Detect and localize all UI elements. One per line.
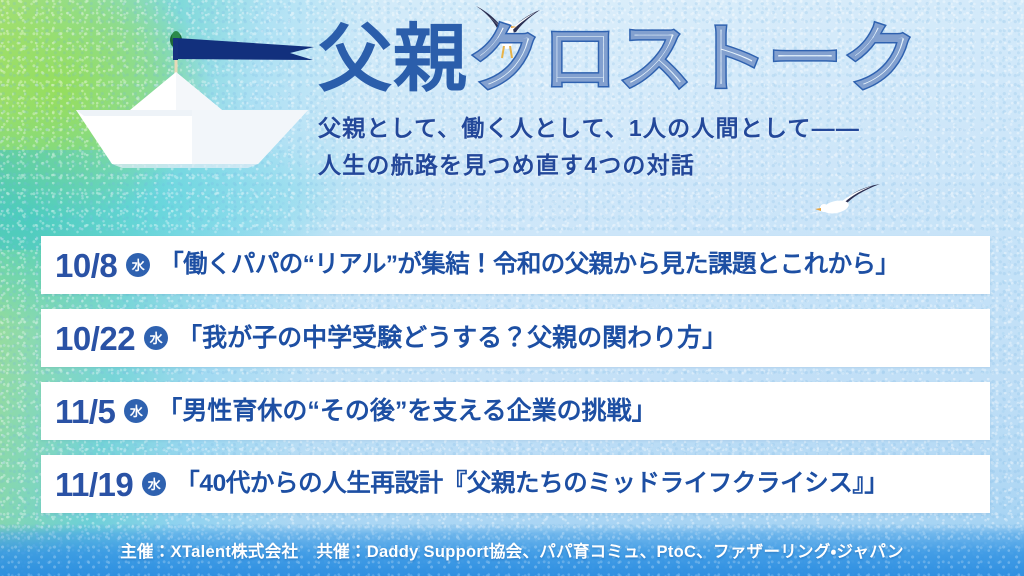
subtitle-line-1: 父親として、働く人として、1人の人間として——: [318, 110, 1008, 147]
co-organizer-label: 共催：Daddy Support協会、パパ育コミュ、PtoC、ファザーリング・ジ…: [316, 543, 903, 561]
seagull-icon-2: [800, 182, 882, 224]
title-outline-part: クロストーク: [468, 17, 918, 100]
day-of-week-badge: 水: [144, 326, 168, 350]
subtitle: 父親として、働く人として、1人の人間として—— 人生の航路を見つめ直す4つの対話: [318, 110, 1008, 185]
session-date: 11/19: [55, 468, 133, 501]
schedule-row[interactable]: 10/22 水 「我が子の中学受験どうする？父親の関わり方」: [41, 309, 990, 367]
schedule-list: 10/8 水 「働くパパの“リアル”が集結！令和の父親から見た課題とこれから」 …: [41, 236, 990, 513]
session-title: 「40代からの人生再設計『父親たちのミッドライフクライシス』」: [175, 472, 888, 497]
title-block: 父親クロストーク 父親として、働く人として、1人の人間として—— 人生の航路を見…: [318, 20, 1008, 184]
organizer-label: 主催：XTalent株式会社: [120, 543, 298, 561]
footer-credits: 主催：XTalent株式会社共催：Daddy Support協会、パパ育コミュ、…: [0, 538, 1024, 562]
subtitle-line-2: 人生の航路を見つめ直す4つの対話: [318, 147, 1008, 184]
session-title: 「我が子の中学受験どうする？父親の関わり方」: [177, 326, 727, 351]
session-title: 「男性育休の“その後”を支える企業の挑戦」: [157, 399, 656, 424]
day-of-week-badge: 水: [126, 253, 150, 277]
paper-boat-icon: [62, 10, 322, 172]
title-solid-part: 父親: [318, 17, 468, 100]
schedule-row[interactable]: 11/19 水 「40代からの人生再設計『父親たちのミッドライフクライシス』」: [41, 455, 990, 513]
session-date: 10/8: [55, 249, 117, 282]
page-title: 父親クロストーク: [318, 20, 1008, 98]
day-of-week-badge: 水: [142, 472, 166, 496]
session-title: 「働くパパの“リアル”が集結！令和の父親から見た課題とこれから」: [159, 253, 899, 278]
day-of-week-badge: 水: [124, 399, 148, 423]
session-date: 10/22: [55, 322, 135, 355]
poster-canvas: 父親クロストーク 父親として、働く人として、1人の人間として—— 人生の航路を見…: [0, 0, 1024, 576]
schedule-row[interactable]: 10/8 水 「働くパパの“リアル”が集結！令和の父親から見た課題とこれから」: [41, 236, 990, 294]
schedule-row[interactable]: 11/5 水 「男性育休の“その後”を支える企業の挑戦」: [41, 382, 990, 440]
session-date: 11/5: [55, 395, 115, 428]
